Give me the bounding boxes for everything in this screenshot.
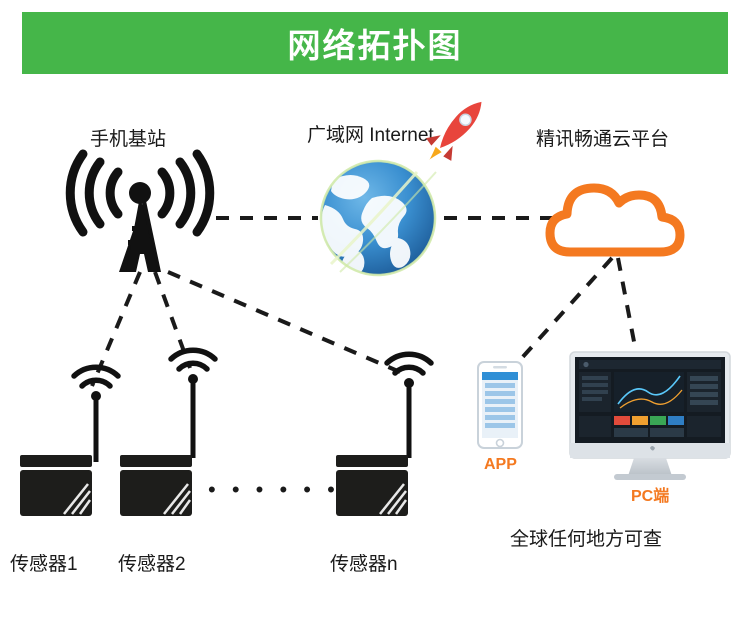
label-sensor-1: 传感器1 (10, 549, 78, 576)
link-cloud-app (520, 258, 612, 360)
connection-lines (92, 218, 636, 386)
desktop-monitor-icon (570, 352, 730, 480)
label-cloud-platform: 精讯畅通云平台 (536, 124, 669, 151)
cell-tower-icon (70, 154, 210, 272)
label-internet: 广域网 Internet (307, 120, 434, 147)
label-pc: PC端 (631, 482, 669, 506)
sensor-device-icon-n (336, 354, 431, 516)
sensor-device-icon-1 (20, 367, 118, 516)
cloud-platform-icon (550, 188, 680, 252)
topology-diagram: 网络拓扑图 手机基站 广域网 Internet 精讯畅通云平台 传感器1 传感器… (0, 0, 750, 619)
sensor-device-icon-2 (120, 350, 215, 516)
label-sensor-n: 传感器n (330, 549, 398, 576)
link-tower-sensorn (168, 272, 400, 372)
link-cloud-pc (618, 258, 636, 352)
label-app: APP (484, 456, 517, 474)
smartphone-icon (478, 362, 522, 448)
page-title: 网络拓扑图 (288, 19, 463, 67)
link-tower-sensor1 (92, 272, 140, 386)
globe-internet-icon (301, 141, 455, 295)
label-sensor-2: 传感器2 (118, 549, 186, 576)
label-anywhere: 全球任何地方可查 (510, 524, 662, 551)
label-base-station: 手机基站 (90, 124, 166, 151)
sensor-ellipsis: • • • • • • (208, 477, 340, 503)
page-title-banner: 网络拓扑图 (22, 12, 728, 74)
link-tower-sensor2 (155, 272, 190, 368)
